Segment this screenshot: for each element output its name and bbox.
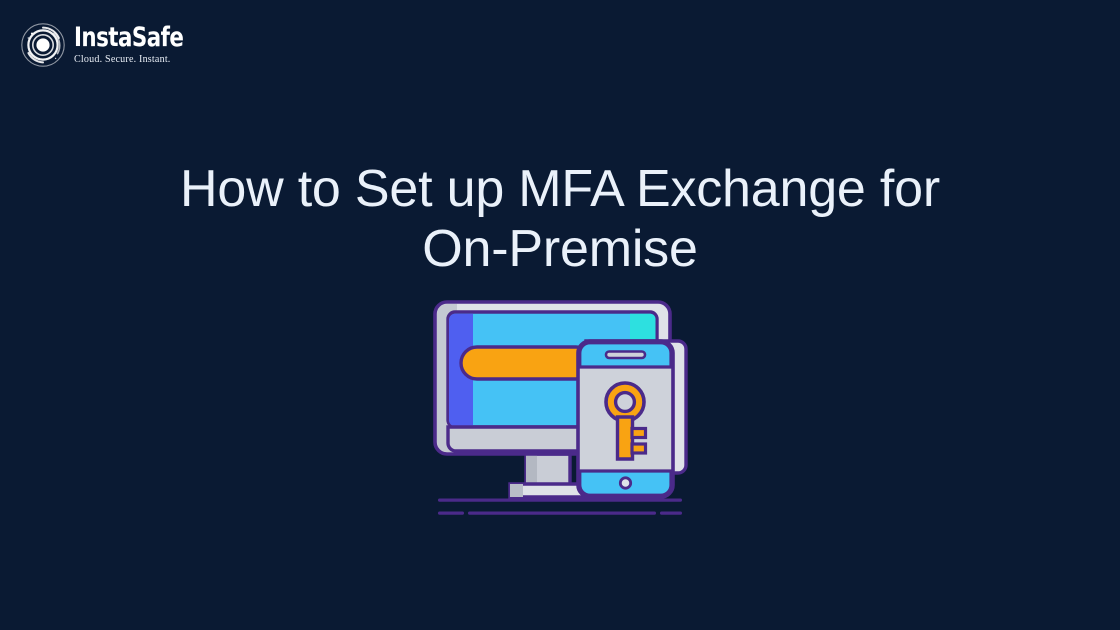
ground-line-dashed	[438, 512, 682, 515]
ground-lines	[438, 499, 682, 515]
monitor-stand	[510, 454, 586, 497]
instasafe-logo[interactable]: InstaSafe Cloud. Secure. Instant.	[20, 22, 198, 68]
slide-canvas: InstaSafe Cloud. Secure. Instant. How to…	[0, 0, 1120, 630]
logo-wordmark: InstaSafe	[74, 24, 183, 51]
logo-text-block: InstaSafe Cloud. Secure. Instant.	[74, 24, 198, 66]
orange-progress-bar	[461, 347, 592, 379]
ground-line-solid	[438, 499, 682, 502]
page-title-line-1: How to Set up MFA Exchange for	[100, 161, 1020, 217]
phone-home-button	[620, 478, 630, 488]
illustration-svg	[430, 295, 690, 535]
page-title: How to Set up MFA Exchange for On-Premis…	[0, 161, 1120, 277]
instasafe-spiral-logo-icon	[20, 22, 66, 68]
smartphone	[578, 341, 686, 497]
page-title-line-2: On-Premise	[100, 221, 1020, 277]
screen-highlight	[630, 314, 656, 343]
logo-tagline: Cloud. Secure. Instant.	[74, 55, 171, 66]
desktop-monitor-with-smartphone-key-mfa-illustration	[430, 295, 690, 535]
phone-speaker-slot	[606, 352, 645, 359]
